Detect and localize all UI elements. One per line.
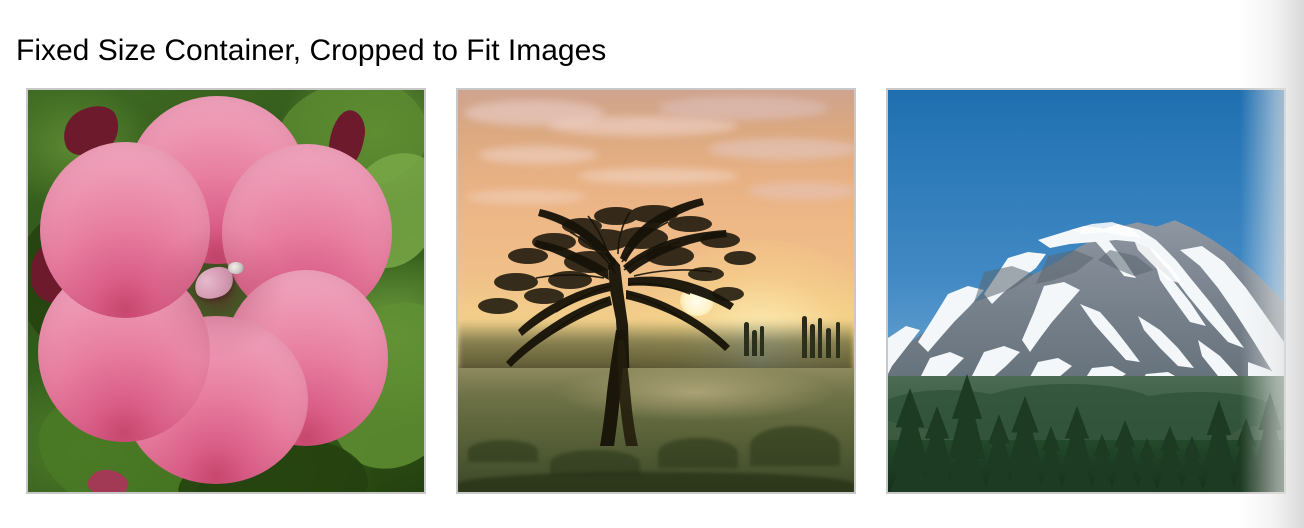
image-container-sunset-tree[interactable] [456, 88, 856, 494]
flower-bloom [46, 102, 378, 474]
grass-tuft [458, 472, 854, 492]
sunset-sky [458, 90, 854, 492]
image-container-mountain[interactable] [886, 88, 1286, 494]
image-sunset-tree [458, 90, 854, 492]
grass-tuft [658, 438, 738, 468]
image-gallery [26, 88, 1286, 494]
image-flower [28, 90, 424, 492]
page-root: Fixed Size Container, Cropped to Fit Ima… [0, 0, 1304, 528]
flower-background [28, 90, 424, 492]
image-mountain [888, 90, 1284, 492]
flower-stamen-tip [228, 262, 244, 274]
mountain-sky [888, 90, 1284, 492]
grass-tuft [750, 426, 840, 466]
grass-tuft [468, 440, 538, 462]
page-title: Fixed Size Container, Cropped to Fit Ima… [16, 33, 606, 69]
image-container-flower[interactable] [26, 88, 426, 494]
